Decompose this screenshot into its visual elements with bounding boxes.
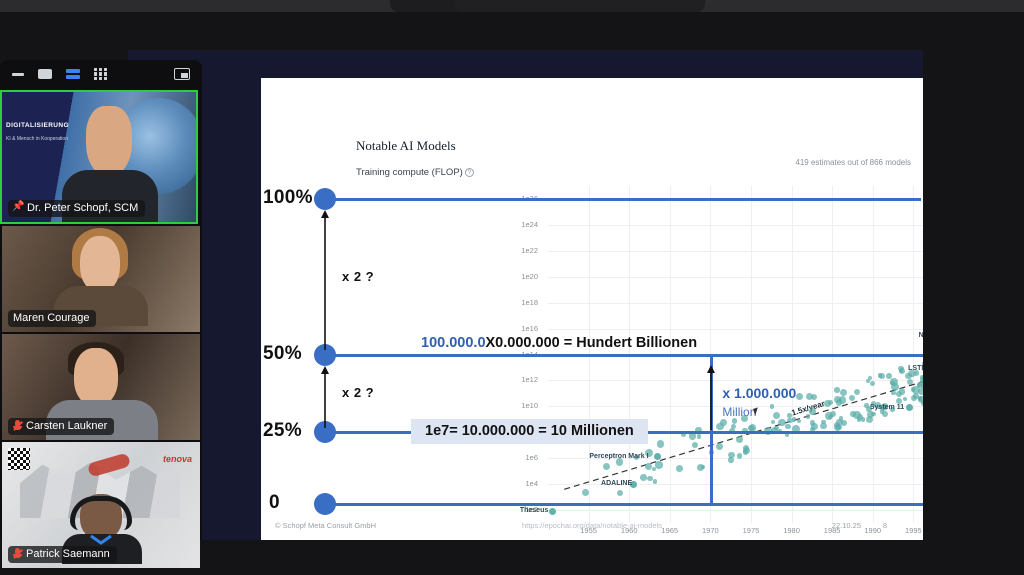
scatter-point-label: Neural LM: [919, 332, 923, 339]
scatter-point[interactable]: [770, 404, 774, 408]
collapse-panel-button[interactable]: [88, 532, 114, 546]
scatter-point[interactable]: [736, 436, 743, 443]
participant-2-nameplate: Carsten Laukner: [8, 418, 114, 435]
overlay-anchor-dot-3: [314, 493, 336, 515]
headphones-icon: [70, 496, 132, 530]
participant-0-nameplate: Dr. Peter Schopf, SCM: [8, 200, 145, 217]
plot-area: Deep Learning Era1e21e41e61e81e101e121e1…: [506, 180, 923, 540]
growth-label-bottom: x 2 ?: [342, 385, 374, 400]
scatter-point[interactable]: [866, 416, 873, 423]
screen: ow' ung eistung hre Notable AI Models Tr…: [0, 0, 1024, 575]
participant-tile-3[interactable]: tenova Patrick Saemann: [2, 442, 200, 568]
scatter-point[interactable]: [647, 476, 652, 481]
growth-arrow-bottom: [317, 366, 333, 429]
mic-muted-icon: [13, 420, 22, 432]
scatter-point[interactable]: [652, 467, 656, 471]
scatter-point[interactable]: [809, 408, 815, 414]
annotation-hundred-suffix: = Hundert Billionen: [560, 335, 697, 351]
scatter-point[interactable]: [861, 417, 866, 422]
scatter-point[interactable]: [921, 382, 923, 390]
video-participant-panel: DIGITALISIERUNG KI & Mensch in Kooperati…: [0, 60, 202, 540]
slide-footer-copyright: © Schopf Meta Consult GmbH: [275, 521, 376, 530]
scatter-point[interactable]: [891, 391, 895, 395]
plot-canvas: Deep Learning Era1e21e41e61e81e101e121e1…: [506, 180, 923, 540]
scatter-point[interactable]: [871, 412, 875, 416]
scatter-point-label: System 11: [870, 404, 904, 411]
participant-2-face: [74, 348, 118, 406]
growth-label-top: x 2 ?: [342, 269, 374, 284]
overlay-scale-label-3: 0: [269, 492, 280, 514]
participant-3-name: Patrick Saemann: [26, 548, 110, 560]
scatter-point[interactable]: [820, 423, 827, 430]
million-arrow: [703, 365, 719, 431]
scatter-point-annotated[interactable]: [906, 404, 913, 411]
scatter-point[interactable]: [655, 461, 662, 468]
pin-icon: [13, 202, 23, 214]
picture-in-picture-icon[interactable]: [174, 68, 190, 80]
scatter-point[interactable]: [797, 419, 801, 423]
scatter-point-label: ADALINE: [601, 480, 632, 487]
scatter-point[interactable]: [806, 393, 813, 400]
participant-0-bg-subtitle: KI & Mensch in Kooperation: [6, 136, 68, 142]
scatter-point[interactable]: [792, 417, 796, 421]
scatter-point[interactable]: [728, 457, 734, 463]
annotation-million-main: x 1.000.000: [722, 385, 796, 401]
overlay-anchor-dot-0: [314, 188, 336, 210]
scatter-point[interactable]: [732, 418, 738, 424]
info-icon[interactable]: ?: [465, 168, 474, 177]
scatter-point-annotated[interactable]: [549, 508, 556, 515]
scatter-point[interactable]: [697, 434, 701, 438]
participant-1-nameplate: Maren Courage: [8, 310, 96, 327]
shared-slide: Notable AI Models Training compute (FLOP…: [261, 78, 923, 540]
scatter-point[interactable]: [811, 423, 818, 430]
overlay-hline-1: [324, 354, 923, 357]
scatter-point[interactable]: [771, 420, 775, 424]
participant-1-name: Maren Courage: [13, 312, 89, 324]
scatter-point[interactable]: [886, 373, 892, 379]
slide-footer-source: https://epochai.org/data/notable-ai-mode…: [522, 521, 662, 530]
participant-0-name: Dr. Peter Schopf, SCM: [27, 202, 138, 214]
scatter-point[interactable]: [743, 445, 749, 451]
annotation-band: 1e7= 10.000.000 = 10 Millionen: [411, 419, 648, 444]
slide-footer-page: 8: [883, 521, 887, 530]
growth-arrow-top: [317, 210, 333, 351]
scatter-point[interactable]: [882, 411, 888, 417]
annotation-hundred-billion: 100.000.0X0.000.000 = Hundert Billionen: [421, 335, 697, 351]
single-view-icon[interactable]: [38, 69, 52, 79]
scatter-point[interactable]: [657, 440, 665, 448]
video-layout-toolbar: [0, 60, 202, 88]
scatter-point[interactable]: [911, 387, 916, 392]
participant-tile-1[interactable]: Maren Courage: [2, 226, 200, 332]
chart-title: Notable AI Models: [356, 138, 456, 154]
y-axis-label-text: Training compute (FLOP): [356, 167, 463, 178]
scatter-point[interactable]: [603, 463, 610, 470]
mic-muted-icon-2: [13, 548, 22, 560]
scatter-point[interactable]: [834, 387, 839, 392]
scatter-point[interactable]: [653, 479, 658, 484]
browser-tab-active[interactable]: [455, 0, 705, 12]
overlay-hline-3: [324, 503, 923, 506]
overlay-scale-label-1: 50%: [263, 343, 302, 365]
participant-tile-2[interactable]: Carsten Laukner: [2, 334, 200, 440]
scatter-point[interactable]: [787, 413, 792, 418]
annotation-million-sub: Million: [722, 405, 756, 419]
scatter-point[interactable]: [891, 383, 899, 391]
scatter-point[interactable]: [841, 420, 847, 426]
y-axis-label: Training compute (FLOP)?: [356, 167, 474, 178]
scatter-point[interactable]: [806, 414, 810, 418]
scatter-point[interactable]: [828, 415, 832, 419]
annotation-hundred-black: X0.000.000: [486, 335, 560, 351]
participant-3-background-accent: [87, 452, 131, 477]
grid-view-icon[interactable]: [94, 68, 107, 81]
participant-3-bg-logo: tenova: [163, 454, 192, 464]
minimize-icon[interactable]: [12, 73, 24, 76]
participant-2-name: Carsten Laukner: [26, 420, 107, 432]
participant-tile-0[interactable]: DIGITALISIERUNG KI & Mensch in Kooperati…: [0, 90, 198, 224]
scatter-point-label: LSTM: [908, 365, 923, 372]
scatter-point[interactable]: [787, 418, 792, 423]
scatter-point-label: Perceptron Mark I: [589, 453, 648, 460]
scatter-point[interactable]: [737, 453, 742, 458]
participant-0-face: [86, 106, 132, 176]
scatter-point[interactable]: [676, 465, 683, 472]
scatter-point[interactable]: [582, 489, 589, 496]
participant-0-bg-title: DIGITALISIERUNG: [6, 122, 69, 129]
scatter-point-label: Theseus: [520, 507, 548, 514]
participant-3-nameplate: Patrick Saemann: [8, 546, 117, 563]
overlay-scale-label-0: 100%: [263, 187, 313, 209]
scatter-point[interactable]: [834, 422, 840, 428]
overlay-scale-label-2: 25%: [263, 420, 302, 442]
scatter-point[interactable]: [903, 397, 907, 401]
qr-code-icon: [8, 448, 30, 470]
scatter-point[interactable]: [921, 400, 923, 406]
scatter-point[interactable]: [864, 403, 869, 408]
presentation-stage: ow' ung eistung hre Notable AI Models Tr…: [128, 50, 923, 540]
scatter-point[interactable]: [905, 373, 911, 379]
sidebar-view-icon[interactable]: [66, 69, 80, 79]
participant-1-face: [80, 236, 120, 292]
overlay-hline-0: [324, 198, 921, 201]
annotation-hundred-blue: 100.000.0: [421, 335, 486, 351]
scatter-point[interactable]: [640, 474, 647, 481]
chart-subtitle: 419 estimates out of 866 models: [795, 158, 911, 167]
scatter-point[interactable]: [834, 396, 841, 403]
slide-footer-date: 22.10.25: [832, 521, 861, 530]
trendline-layer: 1.5x/year4.1x/year: [506, 180, 923, 540]
